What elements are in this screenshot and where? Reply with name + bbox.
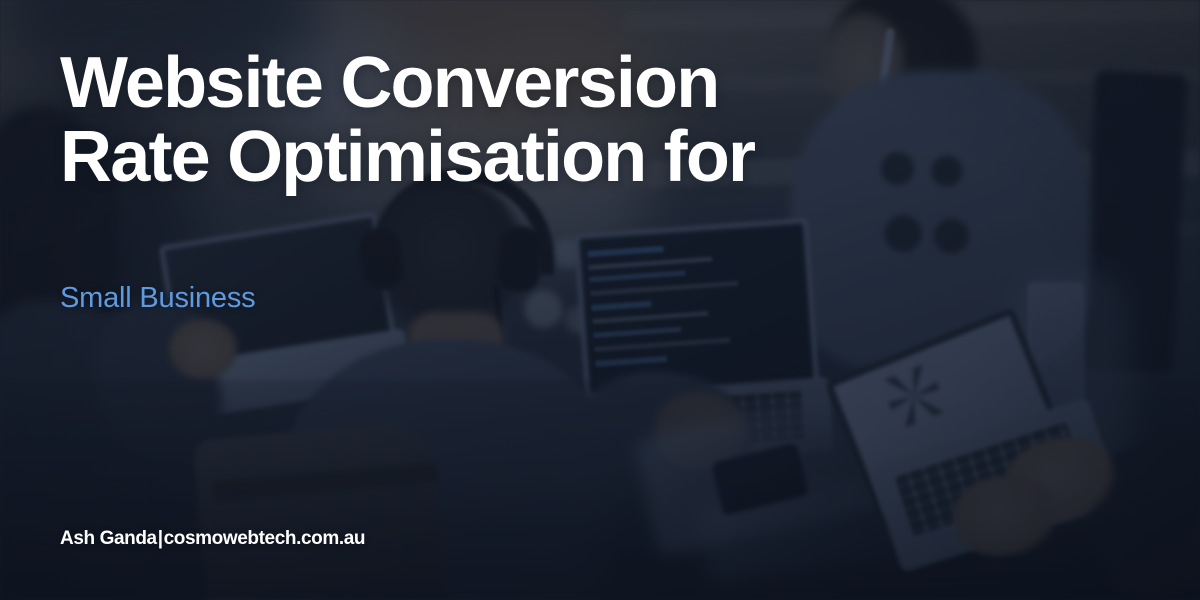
footer-separator: | xyxy=(157,528,164,549)
footer-author: Ash Ganda xyxy=(60,528,157,549)
page-title-line-2: Rate Optimisation for xyxy=(60,117,754,197)
page-title: Website ConversionRate Optimisation for xyxy=(60,46,850,194)
page-title-line-1: Website Conversion xyxy=(60,43,718,123)
banner-content: Website ConversionRate Optimisation for … xyxy=(0,0,1200,600)
hero-banner: Website ConversionRate Optimisation for … xyxy=(0,0,1200,600)
banner-footer: Ash Ganda|cosmowebtech.com.au xyxy=(60,528,365,550)
footer-website: cosmowebtech.com.au xyxy=(164,528,365,549)
page-subtitle: Small Business xyxy=(60,282,255,315)
